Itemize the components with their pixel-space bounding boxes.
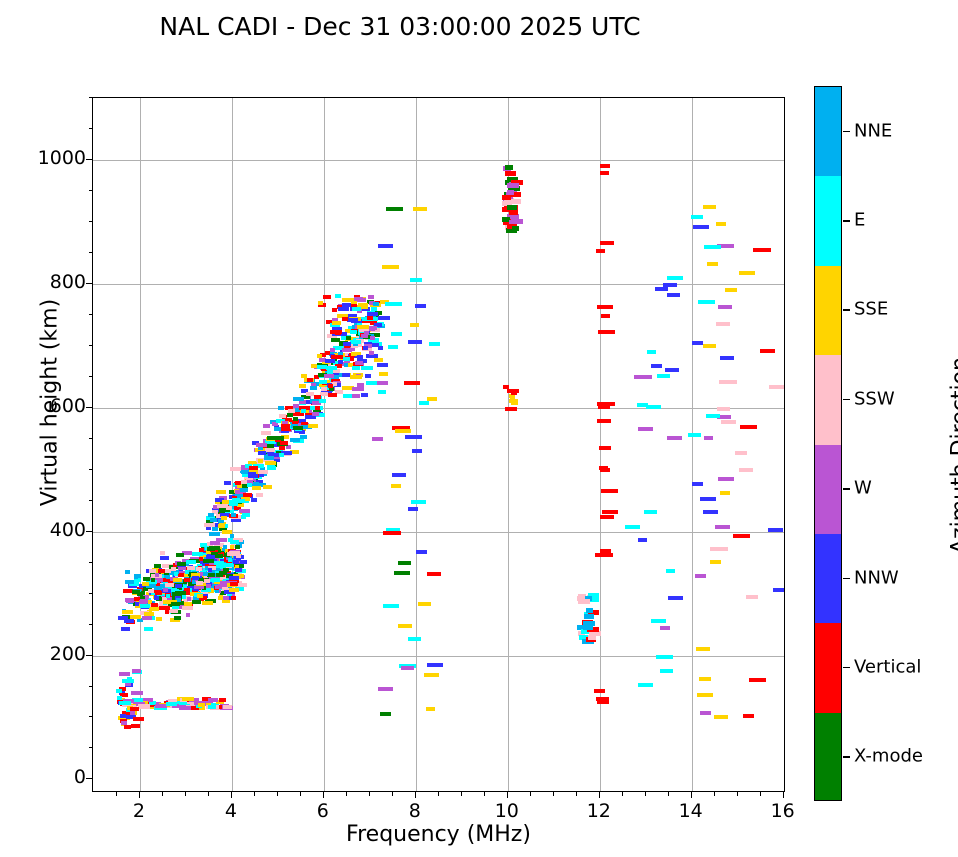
scatter-point [312,412,319,416]
colorbar-segment-x-mode[interactable] [815,713,841,801]
scatter-point [206,555,215,559]
scatter-point [207,573,215,577]
scatter-point [404,381,420,385]
scatter-point [328,393,337,397]
scatter-point [342,303,351,307]
scatter-point [507,205,517,210]
scatter-point [208,698,218,702]
scatter-point [179,706,191,710]
scatter-point [166,575,170,579]
scatter-point [401,666,414,670]
scatter-point [703,205,716,209]
scatter-point [317,354,322,358]
scatter-point [132,669,141,673]
scatter-point [142,616,152,620]
scatter-point [352,387,364,391]
scatter-point [155,573,159,577]
x-tick-label: 12 [569,800,629,822]
scatter-point [214,554,223,558]
scatter-point [182,697,194,701]
scatter-point [206,584,211,588]
scatter-point [198,703,205,707]
scatter-point [392,473,406,477]
x-tick-major [323,792,324,798]
scatter-point [350,375,362,379]
scatter-point [224,481,231,485]
scatter-point [219,563,227,567]
x-tick-minor [254,792,255,796]
scatter-point [427,572,441,576]
x-tick-minor [461,792,462,796]
scatter-point [331,338,340,342]
scatter-point [125,570,130,574]
scatter-point [258,470,268,474]
scatter-point [372,437,383,441]
scatter-point [208,513,214,517]
scatter-point [118,616,128,620]
scatter-point [663,283,677,287]
scatter-point [600,468,610,472]
scatter-point [154,564,161,568]
scatter-point [143,577,150,581]
scatter-point [391,332,402,336]
scatter-point [370,336,375,340]
scatter-point [380,712,391,716]
y-tick-minor [89,345,93,346]
y-tick-minor [89,252,93,253]
scatter-point [386,207,403,211]
y-tick-major [86,778,92,779]
scatter-point [121,721,127,725]
scatter-point [601,489,618,493]
scatter-point [210,518,217,522]
x-tick-label: 14 [661,800,721,822]
scatter-point [594,689,605,693]
scatter-point [427,663,443,667]
scatter-point [216,538,227,542]
scatter-point [660,626,670,630]
scatter-point [341,336,346,340]
scatter-point [367,316,373,320]
x-tick-minor [162,792,163,796]
x-tick-minor [668,792,669,796]
scatter-point [186,560,196,564]
scatter-point [342,348,352,352]
scatter-point [698,300,715,304]
scatter-point [347,318,358,322]
ionogram-figure: NAL CADI - Dec 31 03:00:00 2025 UTC 2468… [0,0,958,857]
scatter-point [743,714,754,718]
y-axis-label: Virtual height (km) [38,223,63,583]
scatter-point [717,407,730,411]
colorbar-label-ssw: SSW [854,388,895,409]
x-tick-label: 16 [753,800,813,822]
scatter-point [692,341,703,345]
scatter-point [186,613,190,617]
x-axis-label: Frequency (MHz) [92,822,785,847]
x-tick-minor [737,792,738,796]
scatter-point [376,381,388,385]
scatter-point [149,569,156,573]
scatter-point [173,578,182,582]
scatter-point [697,693,713,697]
scatter-point [703,510,718,514]
scatter-point [265,448,275,452]
scatter-point [182,595,186,599]
scatter-point [374,358,383,362]
scatter-point [256,443,267,447]
scatter-point [411,500,426,504]
scatter-point [247,483,252,487]
colorbar-label-vertical: Vertical [854,656,921,677]
x-tick-label: 8 [385,800,445,822]
scatter-point [660,669,673,673]
scatter-point [196,581,203,585]
x-tick-major [599,792,600,798]
scatter-point [230,582,238,586]
scatter-point [140,604,150,608]
x-tick-label: 4 [201,800,261,822]
x-tick-label: 10 [477,800,537,822]
scatter-point [597,305,613,309]
scatter-point [383,531,401,535]
scatter-point [327,370,333,374]
scatter-point [208,568,212,572]
scatter-point [692,482,703,486]
scatter-point [739,271,755,275]
scatter-point [666,569,675,573]
colorbar-segment-w[interactable] [815,445,841,534]
scatter-point [740,425,757,429]
scatter-point [601,314,610,318]
scatter-point [160,556,169,560]
scatter-point [290,438,300,442]
colorbar-label-w: W [854,478,872,499]
scatter-point [209,532,220,536]
scatter-point [124,725,131,729]
scatter-point [511,199,518,204]
y-tick-minor [89,469,93,470]
scatter-point [368,295,374,299]
scatter-point [237,499,245,503]
scatter-point [258,451,266,455]
scatter-point [634,375,652,379]
scatter-point [598,553,613,557]
scatter-point [391,484,401,488]
y-tick-minor [89,128,93,129]
scatter-point [267,466,276,470]
scatter-point [378,390,386,394]
scatter-point [293,397,304,401]
x-tick-major [507,792,508,798]
scatter-point [735,451,747,455]
scatter-point [361,393,368,397]
scatter-point [373,302,379,306]
scatter-point [749,678,766,682]
scatter-point [264,456,274,460]
scatter-point [354,297,363,301]
y-tick-minor [89,686,93,687]
y-tick-minor [89,221,93,222]
scatter-point [239,509,250,513]
scatter-point [691,215,703,219]
scatter-point [753,248,771,252]
scatter-point [133,717,144,721]
x-tick-minor [714,792,715,796]
x-tick-minor [346,792,347,796]
scatter-point [718,477,734,481]
scatter-point [229,588,239,592]
scatter-point [137,592,143,596]
scatter-point [293,426,303,430]
scatter-point [319,399,326,403]
scatter-point [655,287,668,291]
scatter-point [398,561,411,565]
scatter-point [287,413,293,417]
scatter-point [326,366,337,370]
scatter-point [202,601,213,605]
scatter-point [647,350,656,354]
scatter-point [223,705,232,709]
scatter-point [154,596,159,600]
x-tick-label: 6 [293,800,353,822]
scatter-point [235,568,242,572]
scatter-point [212,527,218,531]
scatter-point [127,677,132,681]
x-tick-minor [576,792,577,796]
scatter-point [357,383,364,387]
scatter-point [230,540,239,544]
scatter-point [350,340,361,344]
scatter-point [667,436,682,440]
scatter-point [511,219,523,224]
colorbar-segment-ssw[interactable] [815,355,841,444]
scatter-point [331,355,343,359]
scatter-point [177,562,186,566]
scatter-point [174,572,178,576]
scatter-point [507,183,519,188]
y-tick-minor [89,624,93,625]
scatter-point [395,429,411,433]
scatter-point [600,164,610,168]
colorbar-tick [843,309,850,311]
scatter-point [338,307,349,311]
scatter-point [263,424,270,428]
y-tick-major [86,407,92,408]
scatter-point [419,401,429,405]
scatter-point [215,585,222,589]
scatter-point [378,687,393,691]
scatter-point [667,293,680,297]
scatter-point [203,572,208,576]
scatter-point [638,683,653,687]
scatter-point [385,302,402,306]
scatter-point [134,575,138,579]
plot-axes-area[interactable] [92,97,785,792]
x-tick-major [139,792,140,798]
scatter-point [429,342,440,346]
scatter-point [703,344,716,348]
scatter-point [343,357,350,361]
scatter-point [364,331,369,335]
colorbar-tick [843,756,850,758]
scatter-point [320,392,328,396]
scatter-point [335,294,341,298]
scatter-point [368,366,373,370]
scatter-point [315,406,320,410]
scatter-point [718,305,732,309]
scatter-point [716,222,726,226]
scatter-point [131,691,143,695]
x-tick-minor [530,792,531,796]
y-tick-major [86,531,92,532]
y-tick-major [86,283,92,284]
scatter-point [223,568,229,572]
scatter-point [258,459,263,463]
scatter-point [379,372,388,376]
scatter-point [769,385,785,389]
colorbar-label-nnw: NNW [854,567,899,588]
scatter-point [378,316,390,320]
scatter-point [288,409,295,413]
scatter-point [369,326,377,330]
x-tick-minor [622,792,623,796]
scatter-point [318,301,323,305]
scatter-point [301,409,306,413]
colorbar-tick [843,131,850,133]
scatter-point [707,262,718,266]
colorbar[interactable] [814,86,842,801]
scatter-point [586,608,593,613]
scatter-point [310,386,317,390]
scatter-point [125,580,134,584]
colorbar-segment-vertical[interactable] [815,623,841,712]
scatter-point [700,497,716,501]
scatter-point [203,559,214,563]
colorbar-label-nne: NNE [854,120,892,141]
scatter-point [704,436,713,440]
scatter-point [394,571,410,575]
scatter-point [369,351,374,355]
scatter-point [154,586,162,590]
scatter-point [171,567,176,571]
scatter-point [182,606,193,610]
scatter-point [512,226,519,231]
scatter-point [706,414,720,418]
scatter-point [600,241,614,245]
scatter-point [149,607,159,611]
x-tick-minor [185,792,186,796]
scatter-point [241,470,248,474]
scatter-point [196,567,202,571]
scatter-point [119,672,130,676]
scatter-point [688,433,701,437]
y-tick-minor [89,500,93,501]
scatter-point [597,419,611,423]
scatter-point [646,405,661,409]
scatter-point [231,513,236,517]
scatter-point [192,552,203,556]
colorbar-segment-sse[interactable] [815,266,841,355]
colorbar-segment-nnw[interactable] [815,534,841,623]
scatter-point [693,225,709,229]
y-tick-minor [89,190,93,191]
scatter-point [398,624,412,628]
scatter-point [725,288,737,292]
scatter-point [410,278,422,282]
scatter-point [343,342,351,346]
colorbar-label-x-mode: X-mode [854,746,923,767]
colorbar-segment-nne[interactable] [815,87,841,176]
scatter-point [412,449,422,453]
x-tick-major [691,792,692,798]
colorbar-title: Azimuth Direction [948,296,958,616]
scatter-point [323,295,331,299]
scatter-point [135,602,139,606]
scatter-point [625,525,640,529]
scatter-point [299,384,306,388]
scatter-point [695,574,706,578]
scatter-point [280,441,288,445]
y-tick-major [86,159,92,160]
y-tick-major [86,655,92,656]
scatter-point [408,340,422,344]
scatter-point [668,596,683,600]
scatter-point [583,625,593,630]
scatter-point [278,406,284,410]
scatter-point [228,558,232,562]
y-tick-label: 0 [6,766,86,788]
y-tick-minor [89,97,93,98]
scatter-point [714,715,728,719]
scatter-point [357,355,363,359]
scatter-point [174,616,181,620]
scatter-point [222,500,229,504]
scatter-point [350,330,357,334]
scatter-point [651,619,666,623]
scatter-point [156,617,162,621]
scatter-point [185,570,189,574]
x-tick-minor [438,792,439,796]
scatter-point [176,553,184,557]
scatter-point [424,673,439,677]
scatter-point [248,472,256,476]
scatter-point [142,582,149,586]
scatter-point [588,635,596,640]
scatter-point [405,435,422,439]
scatter-point [218,524,225,528]
scatter-point [165,583,174,587]
y-tick-label: 1000 [6,147,86,169]
scatter-point [760,349,775,353]
x-tick-major [783,792,784,798]
scatter-point [160,551,165,555]
scatter-point [267,444,274,448]
scatter-point [332,308,337,312]
scatter-point [352,366,360,370]
colorbar-segment-e[interactable] [815,176,841,265]
scatter-point [265,461,276,465]
scatter-point [357,325,369,329]
scatter-point [324,374,334,378]
scatter-point [408,637,421,641]
x-tick-minor [645,792,646,796]
scatter-point [746,595,758,599]
scatter-point [263,485,272,489]
y-tick-minor [89,314,93,315]
scatter-point [700,711,711,715]
scatter-point [207,547,215,551]
